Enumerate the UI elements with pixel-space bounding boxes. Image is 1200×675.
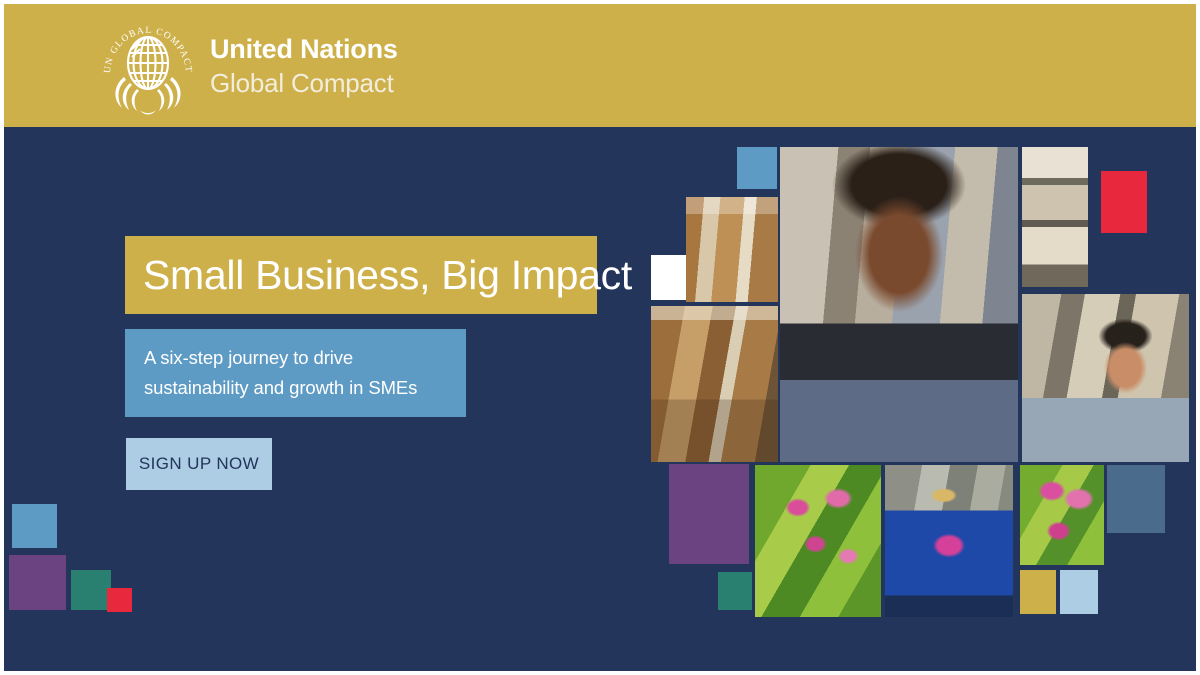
teal-square-collage-bottom bbox=[718, 572, 752, 610]
poster-canvas: UN GLOBAL COMPACT bbox=[0, 0, 1200, 675]
photo-orchid-closeup bbox=[1020, 465, 1104, 565]
sign-up-now-button[interactable]: SIGN UP NOW bbox=[126, 438, 272, 490]
purple-square-collage-bottom bbox=[669, 464, 749, 564]
photo-worker-on-phone bbox=[1022, 294, 1189, 462]
light-blue-square-collage-bottom bbox=[1060, 570, 1098, 614]
red-square-collage-top bbox=[1101, 171, 1147, 233]
purple-square-left bbox=[9, 555, 66, 610]
photo-orchid-closeup-image bbox=[1020, 465, 1104, 565]
logo-line-global-compact: Global Compact bbox=[210, 70, 398, 96]
red-square-left bbox=[107, 588, 132, 612]
photo-leather-workshop-top bbox=[686, 197, 778, 302]
headline-block: Small Business, Big Impact bbox=[125, 236, 597, 314]
steel-blue-square-collage bbox=[1107, 465, 1165, 533]
photo-warehouse-shelves-image bbox=[1022, 147, 1088, 287]
photo-orchid-field-image bbox=[755, 465, 881, 617]
white-square-collage bbox=[651, 255, 686, 300]
subtitle-line-1: A six-step journey to drive bbox=[125, 343, 466, 373]
subtitle-block: A six-step journey to drive sustainabili… bbox=[125, 329, 466, 417]
photo-flower-farmer-image bbox=[885, 465, 1013, 617]
subtitle-line-2: sustainability and growth in SMEs bbox=[125, 373, 466, 403]
photo-warehouse-shelves bbox=[1022, 147, 1088, 287]
photo-orchid-field bbox=[755, 465, 881, 617]
photo-worker-on-phone-image bbox=[1022, 294, 1189, 462]
photo-leather-workshop-top-image bbox=[686, 197, 778, 302]
photo-shop-owner-portrait-image bbox=[780, 147, 1018, 462]
gold-square-collage-bottom bbox=[1020, 570, 1056, 614]
un-global-compact-emblem: UN GLOBAL COMPACT bbox=[100, 15, 196, 117]
photo-flower-farmer bbox=[885, 465, 1013, 617]
logo-line-united-nations: United Nations bbox=[210, 36, 398, 63]
page-title: Small Business, Big Impact bbox=[125, 252, 632, 299]
sign-up-now-label: SIGN UP NOW bbox=[139, 454, 259, 474]
photo-leather-workshop-bottom bbox=[651, 306, 778, 462]
logo-wordmark: United Nations Global Compact bbox=[210, 36, 398, 96]
blue-square-left bbox=[12, 504, 57, 548]
un-global-compact-logo[interactable]: UN GLOBAL COMPACT bbox=[100, 13, 398, 119]
blue-square-collage-top bbox=[737, 147, 777, 189]
photo-shop-owner-portrait bbox=[780, 147, 1018, 462]
site-header: UN GLOBAL COMPACT bbox=[4, 4, 1196, 127]
photo-leather-workshop-bottom-image bbox=[651, 306, 778, 462]
teal-square-left bbox=[71, 570, 111, 610]
poster-stage: UN GLOBAL COMPACT bbox=[4, 4, 1196, 671]
